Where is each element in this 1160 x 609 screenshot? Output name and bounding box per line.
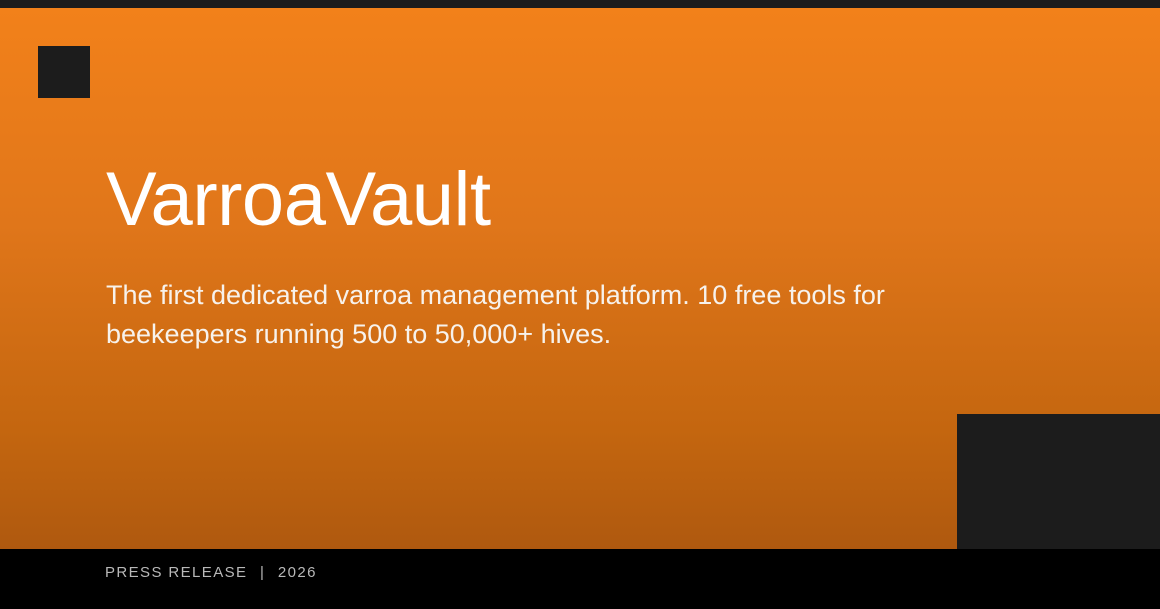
logo-square-icon: [38, 46, 90, 98]
footer-separator: |: [253, 564, 272, 581]
footer-label: PRESS RELEASE: [105, 564, 247, 581]
corner-accent-block: [957, 414, 1160, 557]
footer-meta: PRESS RELEASE | 2026: [105, 564, 317, 581]
top-accent-bar: [0, 0, 1160, 8]
presentation-slide: VarroaVault The first dedicated varroa m…: [0, 0, 1160, 609]
subtitle-text: The first dedicated varroa management pl…: [106, 276, 916, 354]
page-title: VarroaVault: [106, 160, 491, 240]
footer-year: 2026: [278, 564, 317, 581]
